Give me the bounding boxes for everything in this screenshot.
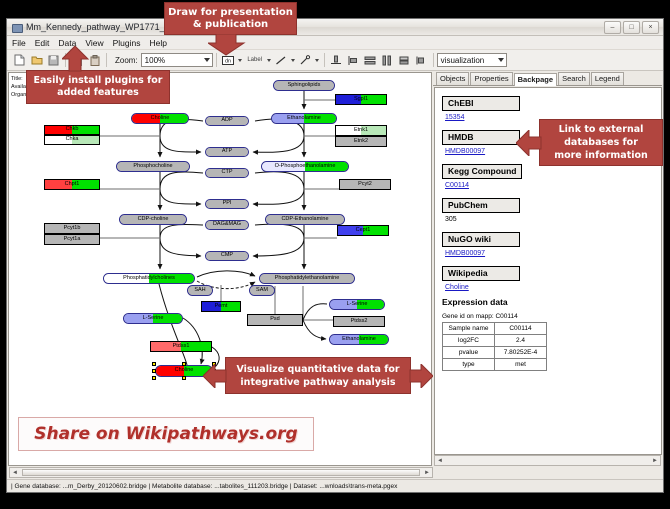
scroll-left-icon[interactable]: ◄ [10,470,20,476]
metabolite-node-cdp-choline[interactable]: CDP-choline [119,214,187,225]
save-disk-icon[interactable] [45,52,62,69]
metabolite-node-ethanolamine-right[interactable]: Ethanolamine [329,334,389,345]
metabolite-node-ctp[interactable]: CTP [205,168,249,178]
callout-plugins-line2: added features [57,87,139,99]
node-label: Chkb [66,127,79,133]
expression-key: pvalue [443,347,495,359]
expression-value: met [495,359,547,371]
side-panel-hscrollbar[interactable]: ◄ ► [434,455,661,466]
node-label: L-Serine [347,302,368,308]
backpage-section-chebi: ChEBI15354 [442,93,661,121]
metabolite-node-o-phosphoethanolamine[interactable]: O-Phosphoethanolamine [261,161,349,172]
node-label: Ethanolamine [342,337,376,343]
tab-legend[interactable]: Legend [591,72,624,85]
metabolite-node-phosphatidylcholines[interactable]: Phosphatidylcholines [103,273,195,284]
callout-viz-arrow-left-icon [203,364,227,388]
callout-links-arrow-icon [516,130,542,156]
node-label: Phosphocholine [133,164,172,170]
toolbar-separator-5 [433,53,434,67]
metabolite-node-choline-top[interactable]: Choline [131,113,189,124]
table-row: pvalue7.80252E-4 [443,347,547,359]
line-icon[interactable] [273,52,290,69]
status-bar-text: | Gene database: ...m_Derby_20120602.bri… [11,483,397,490]
callout-viz-line1: Visualize quantitative data for [236,363,399,376]
share-banner-text: Share on Wikipathways.org [34,424,297,444]
backpage-external-link[interactable]: Choline [445,284,661,291]
zoom-combobox[interactable]: 100% [141,53,213,67]
distribute-horizontal-icon[interactable] [379,52,396,69]
backpage-section-heading: NuGO wiki [442,232,520,247]
callout-viz-line2: integrative pathway analysis [240,376,395,389]
visualization-combobox[interactable]: visualization [437,53,507,67]
node-label: Choline [175,368,194,374]
node-label: SAH [194,288,205,294]
node-label: Ethanolamine [287,116,321,122]
node-label: ATP [222,149,232,155]
callout-draw-for-publication: Draw for presentation & publication [164,2,297,35]
chevron-down-icon [204,58,210,62]
menu-item-edit[interactable]: Edit [35,38,50,48]
backpage-section-heading: Kegg Compound [442,164,522,179]
tab-backpage[interactable]: Backpage [514,73,557,86]
order-icon[interactable] [413,52,430,69]
expression-key: type [443,359,495,371]
callout-external-links: Link to external databases for more info… [539,119,663,166]
maximize-button[interactable]: □ [623,21,640,34]
gene-node-ptdss1[interactable]: Ptdss1 [150,341,212,352]
align-left-icon[interactable] [345,52,362,69]
backpage-external-link[interactable]: HMDB00097 [445,250,661,257]
share-banner: Share on Wikipathways.org [18,417,314,451]
node-label: CMP [221,253,233,259]
close-button[interactable]: × [642,21,659,34]
callout-links-line2: databases for [564,136,638,149]
gene-node-chka[interactable]: Chka [44,135,100,145]
metabolite-node-sah[interactable]: SAH [187,285,213,296]
new-file-icon[interactable] [11,52,28,69]
node-label: Sphingolipids [288,83,321,89]
metabolite-node-cmp[interactable]: CMP [205,251,249,261]
callout-draw-line1: Draw for presentation [168,7,293,19]
metabolite-node-atp[interactable]: ATP [205,147,249,157]
callout-plugins-arrow-icon [62,46,90,72]
selection-handle[interactable] [182,362,186,366]
tab-search[interactable]: Search [558,72,590,85]
gene-node-pcyt1a[interactable]: Pcyt1a [44,234,100,245]
node-label: Sgpl1 [354,97,368,103]
selection-handle[interactable] [152,369,156,373]
metabolite-node-phosphatidylethanolamine[interactable]: Phosphatidylethanolamine [259,273,355,284]
interaction-icon[interactable] [297,52,314,69]
table-row: log2FC2.4 [443,335,547,347]
label-tool-text: Label [247,57,262,63]
metabolite-node-adp[interactable]: ADP [205,116,249,126]
scroll-left-icon[interactable]: ◄ [435,458,445,464]
metabolite-node-sam[interactable]: SAM [249,285,275,296]
node-label: Ptdss1 [173,344,190,350]
node-label: Cept1 [356,228,371,234]
gene-node-ptdss2[interactable]: Ptdss2 [333,316,385,327]
label-dropdown-icon[interactable] [267,59,271,62]
node-label: Etnk2 [354,139,368,145]
backpage-section-pubchem: PubChem305 [442,195,661,223]
metabolite-node-l-serine-left[interactable]: L-Serine [123,313,183,324]
title-bar: Mm_Kennedy_pathway_WP1771_45176.gpml – □… [7,19,663,36]
node-label: ADP [221,118,232,124]
node-label: Etnk1 [354,128,368,134]
backpage-section-nugo-wiki: NuGO wikiHMDB00097 [442,229,661,257]
node-label: Psd [270,317,279,323]
window-controls: – □ × [604,21,659,34]
backpage-value: 305 [445,216,661,223]
node-label: PPI [223,201,232,207]
tab-objects[interactable]: Objects [436,72,469,85]
backpage-external-link[interactable]: C00114 [445,182,661,189]
metabolite-node-l-serine-right[interactable]: L-Serine [329,299,385,310]
gene-node-chkb[interactable]: Chkb [44,125,100,135]
stack-icon[interactable] [396,52,413,69]
menu-item-help[interactable]: Help [150,38,167,48]
backpage-section-heading: Wikipedia [442,266,520,281]
gene-node-etnk2[interactable]: Etnk2 [335,136,387,147]
backpage-section-heading: HMDB [442,130,520,145]
tab-properties[interactable]: Properties [470,72,512,85]
selection-handle[interactable] [152,376,156,380]
node-label: DAG&MAG [213,222,241,228]
gene-node-sgpl1[interactable]: Sgpl1 [335,94,387,105]
callout-install-plugins: Easily install plugins for added feature… [26,70,170,104]
node-label: Pemt [215,304,228,310]
toolbar: Zoom: 100% dn Label [7,50,663,71]
selection-handle[interactable] [152,362,156,366]
gene-node-psd[interactable]: Psd [247,314,303,326]
node-label: SAM [256,288,268,294]
gene-id-line: Gene id on mapp: C00114 [442,313,661,320]
callout-plugins-line1: Easily install plugins for [34,75,163,87]
side-panel-tabs: ObjectsPropertiesBackpageSearchLegend [433,72,662,86]
canvas-hscrollbar[interactable]: ◄ ► [9,467,433,478]
expression-key: log2FC [443,335,495,347]
visualization-value: visualization [441,56,485,65]
selection-handle[interactable] [182,376,186,380]
toolbar-separator-2 [106,53,107,67]
pathvisio-icon [11,22,22,33]
node-label: L-Serine [143,316,164,322]
expression-key: Sample name [443,323,495,335]
minimize-button[interactable]: – [604,21,621,34]
node-label: Pcyt1a [64,237,81,243]
expression-table: Sample nameC00114log2FC2.4pvalue7.80252E… [442,322,547,371]
node-label: O-Phosphoethanolamine [275,164,336,170]
metabolite-node-sphingolipids[interactable]: Sphingolipids [273,80,335,91]
scroll-right-icon[interactable]: ► [422,470,432,476]
interaction-dropdown-icon[interactable] [315,59,319,62]
backpage-section-heading: ChEBI [442,96,520,111]
expression-value: 7.80252E-4 [495,347,547,359]
node-label: Chpt1 [65,182,80,188]
datanode-dropdown-icon[interactable] [238,59,242,62]
metabolite-node-phosphocholine[interactable]: Phosphocholine [116,161,190,172]
align-top-icon[interactable] [328,52,345,69]
gene-node-chpt1[interactable]: Chpt1 [44,179,100,190]
node-label: Phosphatidylcholines [123,276,175,282]
node-label: Phosphatidylethanolamine [275,276,340,282]
node-label: Pcyt2 [358,182,372,188]
pathway-canvas[interactable]: Title: Availab Organi [8,72,432,466]
callout-visualize-data: Visualize quantitative data for integrat… [225,357,411,394]
zoom-label: Zoom: [115,56,138,65]
callout-links-line3: more information [554,149,648,162]
menu-item-file[interactable]: File [12,38,26,48]
callout-viz-arrow-right-icon [409,364,433,388]
menu-bar: File Edit Data View Plugins Help [7,36,663,50]
open-folder-icon[interactable] [28,52,45,69]
node-label: CTP [222,170,233,176]
callout-draw-line2: & publication [193,19,268,31]
chevron-down-icon [498,58,504,62]
table-row: Sample nameC00114 [443,323,547,335]
gene-node-pemt[interactable]: Pemt [201,301,241,312]
expression-value: 2.4 [495,335,547,347]
callout-draw-arrow-icon [208,34,248,56]
backpage-section-heading: PubChem [442,198,520,213]
table-row: typemet [443,359,547,371]
gene-node-etnk1[interactable]: Etnk1 [335,125,387,136]
gene-node-pcyt2[interactable]: Pcyt2 [339,179,391,190]
metabolite-node-ethanolamine[interactable]: Ethanolamine [271,113,337,124]
expression-data-heading: Expression data [442,297,661,307]
node-label: Chka [66,137,79,143]
expression-value: C00114 [495,323,547,335]
svg-text:dn: dn [225,58,231,64]
node-label: Choline [151,116,170,122]
toolbar-separator-4 [324,53,325,67]
callout-links-line1: Link to external [559,123,644,136]
zoom-value: 100% [145,56,165,65]
node-label: Ptdss2 [351,319,368,325]
node-label: CDP-choline [138,217,169,223]
gene-node-pcyt1b[interactable]: Pcyt1b [44,223,100,234]
scroll-thumb[interactable] [22,469,420,476]
node-label: Pcyt1b [64,226,81,232]
distribute-vertical-icon[interactable] [362,52,379,69]
metabolite-node-dag-mag[interactable]: DAG&MAG [205,220,249,230]
gene-node-cept1[interactable]: Cept1 [337,225,389,236]
scroll-right-icon[interactable]: ► [650,458,660,464]
status-bar: | Gene database: ...m_Derby_20120602.bri… [7,479,663,492]
metabolite-node-ppi[interactable]: PPI [205,199,249,209]
node-label: CDP-Ethanolamine [281,217,328,223]
menu-item-plugins[interactable]: Plugins [113,38,141,48]
metabolite-node-cdp-ethanolamine[interactable]: CDP-Ethanolamine [265,214,345,225]
backpage-section-wikipedia: WikipediaCholine [442,263,661,291]
line-dropdown-icon[interactable] [291,59,295,62]
